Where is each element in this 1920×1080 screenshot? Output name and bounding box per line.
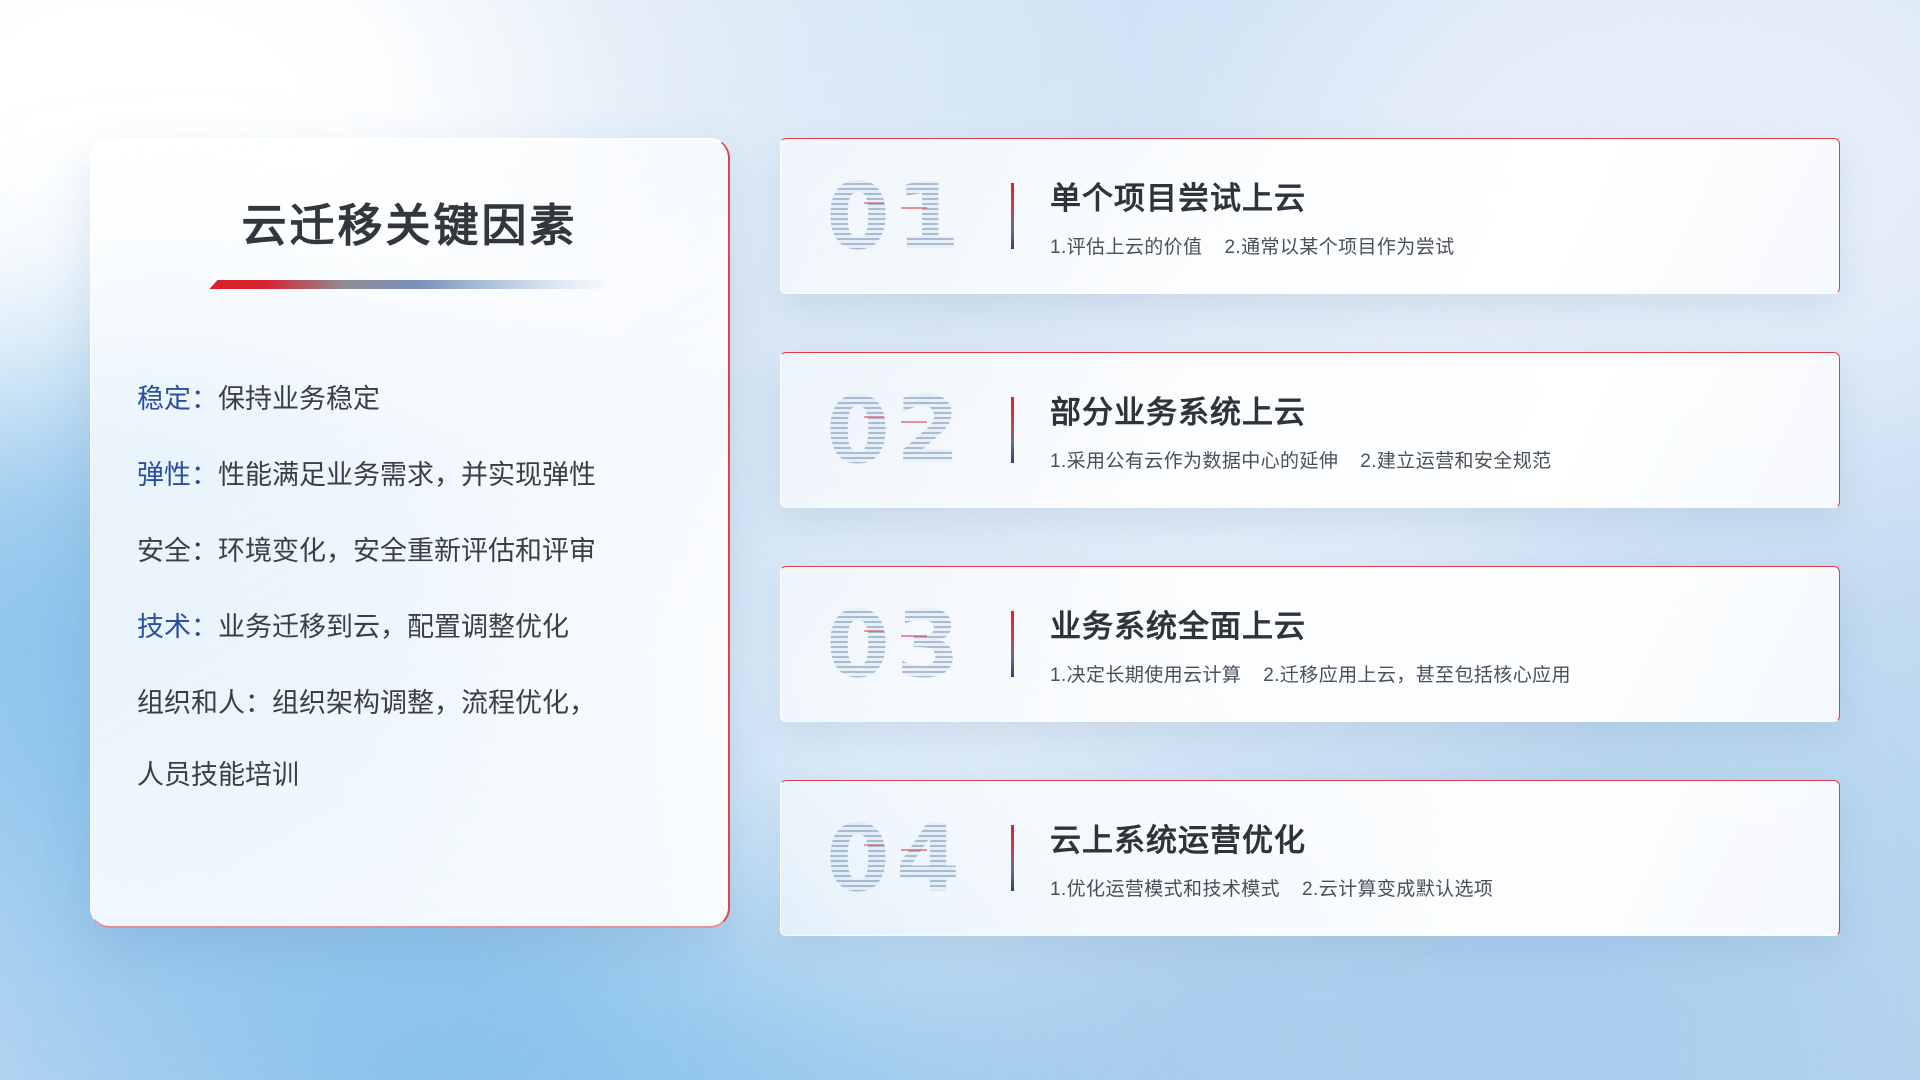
factor-row: 安全：环境变化，安全重新评估和评审 (137, 513, 728, 589)
title-gradient-rule (210, 280, 610, 289)
stage-number-accent-tick (901, 849, 927, 851)
card-description: 1.优化运营模式和技术模式2.云计算变成默认选项 (1050, 874, 1809, 901)
factor-row: 弹性：性能满足业务需求，并实现弹性 (137, 437, 728, 513)
key-factors-panel: 云迁移关键因素 稳定：保持业务稳定弹性：性能满足业务需求，并实现弹性安全：环境变… (90, 138, 730, 928)
factor-value: 性能满足业务需求，并实现弹性 (218, 460, 596, 490)
factor-value: 组织架构调整，流程优化， (272, 688, 596, 718)
factor-row: 人员技能培训 (137, 737, 728, 813)
factor-label: 稳定： (137, 384, 218, 414)
card-body: 业务系统全面上云1.决定长期使用云计算2.迁移应用上云，甚至包括核心应用 (1050, 601, 1839, 687)
card-title: 业务系统全面上云 (1050, 601, 1809, 646)
factor-label: 安全： (137, 536, 218, 566)
stage-number: 01 (826, 163, 966, 270)
card-description: 1.评估上云的价值2.通常以某个项目作为尝试 (1050, 232, 1809, 259)
card-accent-divider (1011, 611, 1014, 677)
factor-label: 弹性： (137, 460, 218, 490)
stage-number-watermark: 0303 (781, 567, 1011, 721)
factor-row: 稳定：保持业务稳定 (137, 361, 728, 437)
card-title: 单个项目尝试上云 (1050, 173, 1809, 218)
card-title: 云上系统运营优化 (1050, 815, 1809, 860)
card-point: 1.优化运营模式和技术模式 (1050, 879, 1280, 900)
factor-value: 保持业务稳定 (218, 384, 380, 414)
factor-row: 组织和人：组织架构调整，流程优化， (137, 665, 728, 741)
stage-number-accent-tick (901, 635, 927, 637)
stage-card[interactable]: 0303业务系统全面上云1.决定长期使用云计算2.迁移应用上云，甚至包括核心应用 (780, 566, 1840, 722)
card-body: 云上系统运营优化1.优化运营模式和技术模式2.云计算变成默认选项 (1050, 815, 1839, 901)
card-point: 1.评估上云的价值 (1050, 237, 1202, 258)
stage-card-list: 0101单个项目尝试上云1.评估上云的价值2.通常以某个项目作为尝试0202部分… (780, 138, 1840, 936)
card-description: 1.决定长期使用云计算2.迁移应用上云，甚至包括核心应用 (1050, 660, 1809, 687)
stage-card[interactable]: 0404云上系统运营优化1.优化运营模式和技术模式2.云计算变成默认选项 (780, 780, 1840, 936)
card-point: 2.建立运营和安全规范 (1360, 451, 1551, 472)
factor-label: 组织和人： (137, 688, 272, 718)
stage-number: 02 (826, 377, 966, 484)
stage-number: 04 (826, 805, 966, 912)
factor-value: 业务迁移到云，配置调整优化 (218, 612, 569, 642)
factor-row: 技术：业务迁移到云，配置调整优化 (137, 589, 728, 665)
stage-number-accent-tick (864, 630, 884, 632)
stage-number-accent-tick (864, 202, 884, 204)
factor-list: 稳定：保持业务稳定弹性：性能满足业务需求，并实现弹性安全：环境变化，安全重新评估… (137, 361, 728, 813)
card-accent-divider (1011, 183, 1014, 249)
factor-label: 技术： (137, 612, 218, 642)
card-title: 部分业务系统上云 (1050, 387, 1809, 432)
stage-card[interactable]: 0202部分业务系统上云1.采用公有云作为数据中心的延伸2.建立运营和安全规范 (780, 352, 1840, 508)
stage-card[interactable]: 0101单个项目尝试上云1.评估上云的价值2.通常以某个项目作为尝试 (780, 138, 1840, 294)
stage-number-watermark: 0202 (781, 353, 1011, 507)
card-point: 1.决定长期使用云计算 (1050, 665, 1241, 686)
slide-canvas: 云迁移关键因素 稳定：保持业务稳定弹性：性能满足业务需求，并实现弹性安全：环境变… (0, 0, 1920, 1080)
stage-number-accent-tick (864, 416, 884, 418)
card-point: 2.通常以某个项目作为尝试 (1224, 237, 1454, 258)
stage-number-accent-tick (901, 207, 927, 209)
stage-number-watermark: 0101 (781, 139, 1011, 293)
page-title: 云迁移关键因素 (91, 189, 728, 254)
card-accent-divider (1011, 825, 1014, 891)
card-accent-divider (1011, 397, 1014, 463)
card-body: 单个项目尝试上云1.评估上云的价值2.通常以某个项目作为尝试 (1050, 173, 1839, 259)
factor-value: 人员技能培训 (137, 760, 299, 790)
card-body: 部分业务系统上云1.采用公有云作为数据中心的延伸2.建立运营和安全规范 (1050, 387, 1839, 473)
card-point: 2.云计算变成默认选项 (1302, 879, 1493, 900)
stage-number-accent-tick (901, 421, 927, 423)
card-point: 1.采用公有云作为数据中心的延伸 (1050, 451, 1338, 472)
stage-number-watermark: 0404 (781, 781, 1011, 935)
stage-number: 03 (826, 591, 966, 698)
card-point: 2.迁移应用上云，甚至包括核心应用 (1263, 665, 1571, 686)
factor-value: 环境变化，安全重新评估和评审 (218, 536, 596, 566)
card-description: 1.采用公有云作为数据中心的延伸2.建立运营和安全规范 (1050, 446, 1809, 473)
stage-number-accent-tick (864, 844, 884, 846)
